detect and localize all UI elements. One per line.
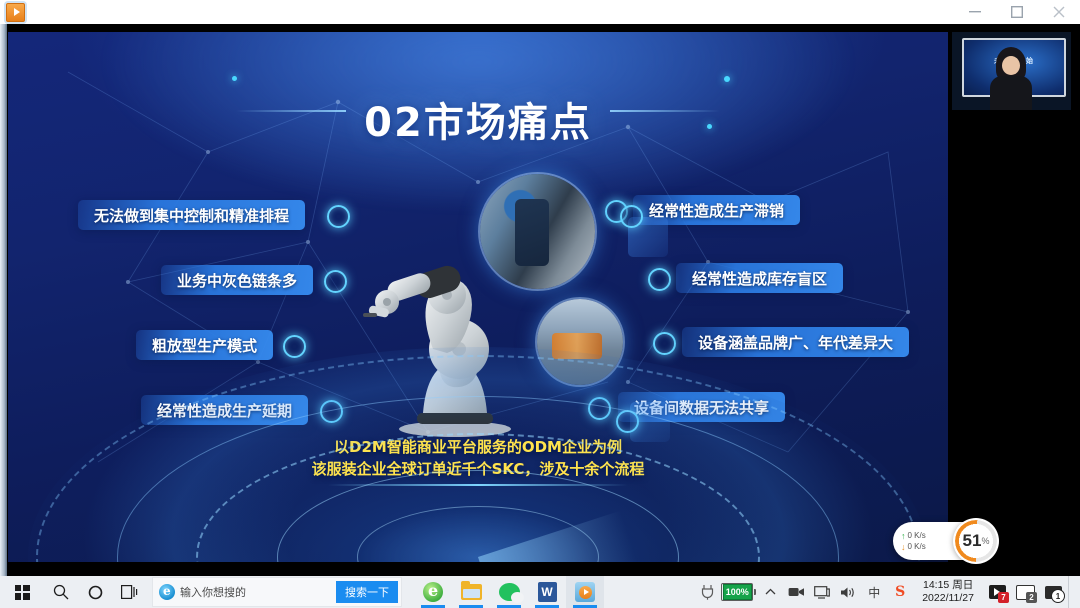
title-dot-2 (724, 76, 730, 82)
wechat-icon (499, 583, 520, 601)
windows-taskbar: 输入你想搜的 搜索一下 W 100% (0, 576, 1080, 608)
window-titlebar (0, 0, 1080, 25)
message-notification-badge: 2 (1026, 592, 1037, 603)
battery-percent: 100% (723, 584, 752, 600)
taskbar-app-internet-explorer[interactable] (414, 576, 452, 608)
minimize-button[interactable] (954, 1, 996, 24)
search-box[interactable]: 输入你想搜的 搜索一下 (152, 577, 402, 607)
pain-point-right-3[interactable]: 设备涵盖品牌广、年代差异大 (682, 327, 909, 357)
node-left-3 (283, 335, 306, 358)
pain-point-label: 设备涵盖品牌广、年代差异大 (698, 332, 893, 353)
presenter-video: 未来已开始 (952, 32, 1071, 110)
action-center-badge: 1 (1051, 589, 1065, 603)
message-notification-icon[interactable]: 2 (1012, 576, 1038, 608)
pain-point-label: 经常性造成库存盲区 (692, 268, 827, 289)
sogou-input-icon[interactable]: S (888, 576, 912, 608)
download-speed-value: 0 K/s (908, 542, 926, 552)
media-player-icon (575, 582, 595, 602)
pain-point-label: 经常性造成生产滞销 (649, 200, 784, 221)
node-right-2 (648, 268, 671, 291)
taskbar-app-file-explorer[interactable] (452, 576, 490, 608)
taskbar-app-media-player[interactable] (566, 576, 604, 608)
maximize-button[interactable] (996, 1, 1038, 24)
video-notification-badge: 7 (998, 592, 1009, 603)
tray-expand-chevron-icon[interactable] (758, 576, 782, 608)
presentation-slide[interactable]: 02市场痛点 无法做到集中控制和精准排程 业务中灰色链条多 粗放型生产模式 经常… (8, 32, 948, 562)
battery-indicator[interactable]: 100% (721, 583, 756, 601)
network-speed-rows: ↑ 0 K/s ↓ 0 K/s (901, 531, 926, 552)
internet-explorer-icon (423, 582, 443, 602)
cortana-icon (88, 585, 103, 600)
title-dot-1 (232, 76, 237, 81)
taskbar-search-button[interactable] (44, 576, 78, 608)
power-plug-icon[interactable] (695, 576, 719, 608)
show-desktop-button[interactable] (1068, 576, 1076, 608)
clock-date: 2022/11/27 (922, 592, 974, 605)
camera-icon[interactable] (784, 576, 808, 608)
task-view-icon (121, 585, 138, 599)
presenter-video-panel[interactable]: 未来已开始 (950, 24, 1073, 576)
media-player-icon (6, 3, 25, 22)
close-button[interactable] (1038, 1, 1080, 24)
start-button[interactable] (0, 576, 44, 608)
window-left-edge (0, 24, 7, 576)
pain-point-label: 粗放型生产模式 (152, 335, 257, 356)
presenter-avatar (988, 50, 1034, 110)
node-right-3 (653, 332, 676, 355)
task-view-button[interactable] (112, 576, 146, 608)
network-speed-widget[interactable]: ↑ 0 K/s ↓ 0 K/s 51 % (893, 522, 989, 560)
node-left-2 (324, 270, 347, 293)
node-left-1 (327, 205, 350, 228)
search-submit-button[interactable]: 搜索一下 (336, 581, 398, 603)
taskbar-app-wechat[interactable] (490, 576, 528, 608)
slide-title: 02市场痛点 (8, 90, 948, 148)
screen: 02市场痛点 无法做到集中控制和精准排程 业务中灰色链条多 粗放型生产模式 经常… (0, 0, 1080, 608)
search-icon (53, 584, 69, 600)
windows-start-icon (15, 585, 30, 600)
upload-arrow-icon: ↑ (901, 531, 906, 541)
folder-icon (461, 584, 482, 600)
taskbar-app-word[interactable]: W (528, 576, 566, 608)
gauge-value: 51 (963, 531, 982, 551)
pain-point-right-2[interactable]: 经常性造成库存盲区 (676, 263, 843, 293)
pain-point-label: 业务中灰色链条多 (177, 270, 297, 291)
cortana-button[interactable] (78, 576, 112, 608)
upload-speed-value: 0 K/s (908, 531, 926, 541)
pain-point-left-1[interactable]: 无法做到集中控制和精准排程 (78, 200, 305, 230)
download-arrow-icon: ↓ (901, 542, 906, 552)
download-speed-row: ↓ 0 K/s (901, 542, 926, 552)
internet-explorer-icon (159, 584, 175, 600)
memory-usage-gauge[interactable]: 51 % (953, 518, 999, 564)
pain-point-label: 无法做到集中控制和精准排程 (94, 205, 289, 226)
taskbar-clock[interactable]: 14:15 周日 2022/11/27 (914, 579, 982, 605)
display-icon[interactable] (810, 576, 834, 608)
ime-language-icon[interactable]: 中 (862, 576, 886, 608)
video-notification-icon[interactable]: 7 (984, 576, 1010, 608)
search-input[interactable]: 输入你想搜的 (180, 584, 336, 600)
upload-speed-row: ↑ 0 K/s (901, 531, 926, 541)
pain-point-left-3[interactable]: 粗放型生产模式 (136, 330, 273, 360)
action-center-icon[interactable]: 1 (1040, 576, 1066, 608)
pain-point-left-2[interactable]: 业务中灰色链条多 (161, 265, 313, 295)
deco-node-1 (620, 205, 643, 228)
volume-icon[interactable] (836, 576, 860, 608)
word-icon: W (538, 582, 557, 602)
factory-worker-photo (478, 172, 597, 291)
clock-time: 14:15 周日 (922, 579, 974, 592)
system-tray: 100% 中 S 14:15 周日 2022/11/27 (695, 576, 1080, 608)
